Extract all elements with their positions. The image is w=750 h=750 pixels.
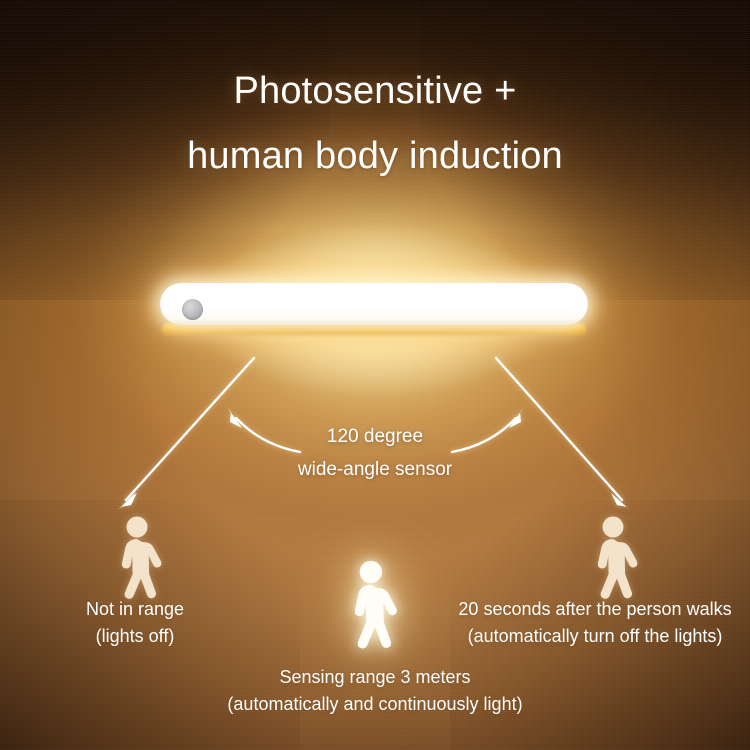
led-light-bar [158, 278, 590, 332]
walking-person-icon-right [584, 516, 646, 600]
caption-not-in-range: Not in range (lights off) [0, 596, 270, 650]
caption-sensing-range: Sensing range 3 meters (automatically an… [135, 664, 615, 718]
caption-mid-line-1: Sensing range 3 meters [135, 664, 615, 691]
light-bar-body [160, 283, 588, 325]
page-title: Photosensitive + human body induction [0, 72, 750, 175]
caption-right-line-1: 20 seconds after the person walks [440, 596, 750, 623]
caption-mid-line-2: (automatically and continuously light) [135, 691, 615, 718]
caption-right-line-2: (automatically turn off the lights) [440, 623, 750, 650]
caption-left-line-1: Not in range [0, 596, 270, 623]
sensor-angle-line-2: wide-angle sensor [225, 453, 525, 486]
sensor-angle-line-1: 120 degree [225, 420, 525, 453]
walking-person-icon-center [340, 560, 406, 650]
headline-line-1: Photosensitive + [233, 70, 516, 112]
caption-auto-off: 20 seconds after the person walks (autom… [440, 596, 750, 650]
pir-sensor-dot [182, 299, 203, 320]
sensor-angle-label: 120 degree wide-angle sensor [225, 420, 525, 486]
walking-person-icon-left [108, 516, 170, 600]
headline-line-2: human body induction [0, 137, 750, 175]
caption-left-line-2: (lights off) [0, 623, 270, 650]
product-feature-image: Photosensitive + human body induction [0, 0, 750, 750]
